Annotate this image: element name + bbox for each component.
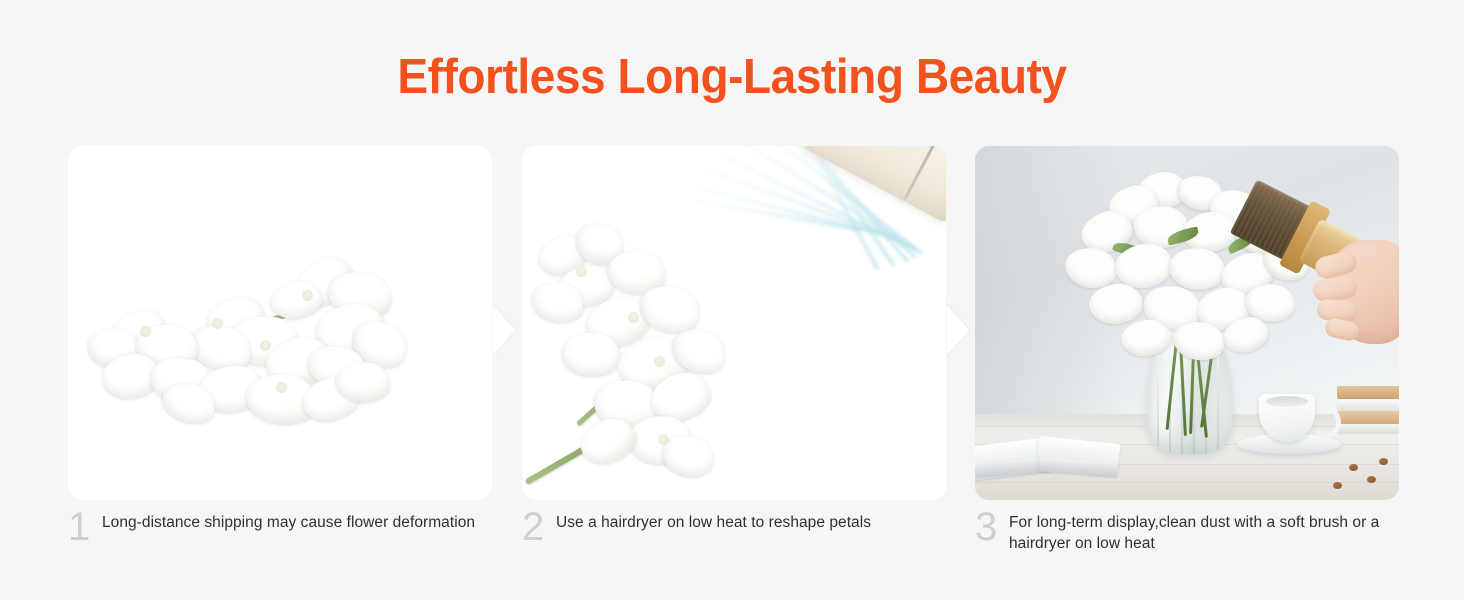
stacked-books [1337,386,1399,436]
step-card-2: 2 Use a hairdryer on low heat to reshape… [522,146,946,576]
open-magazine [975,420,1123,492]
step-3-image [975,146,1399,500]
step-3-caption: 3 For long-term display,clean dust with … [975,512,1399,554]
coffee-bean [1349,464,1358,471]
step-2-image [522,146,946,500]
step-number-3: 3 [975,507,1009,547]
step-3-text: For long-term display,clean dust with a … [1009,512,1399,554]
coffee-bean [1367,476,1376,483]
dusting-lifestyle-photo [975,146,1399,500]
coffee-bean [1379,458,1388,465]
hydrangea-stem-flowers [532,224,762,486]
coffee-bean [1333,482,1342,489]
step-card-3: 3 For long-term display,clean dust with … [975,146,1399,576]
hairdryer-nozzle [772,146,946,259]
hand-holding-brush [1315,240,1399,352]
hydrangea-bunch [80,242,410,432]
infographic-page: Effortless Long-Lasting Beauty [0,0,1464,600]
step-1-text: Long-distance shipping may cause flower … [102,512,492,533]
step-arrow-1-icon [492,303,518,359]
steps-row: 1 Long-distance shipping may cause flowe… [0,146,1464,576]
step-arrow-2-icon [946,303,972,359]
step-card-1: 1 Long-distance shipping may cause flowe… [68,146,492,576]
hairdryer-reshaping-illustration [522,146,946,500]
step-number-2: 2 [522,507,556,547]
step-2-text: Use a hairdryer on low heat to reshape p… [556,512,946,533]
step-2-caption: 2 Use a hairdryer on low heat to reshape… [522,512,946,547]
step-1-image [68,146,492,500]
crushed-hydrangea-illustration [68,146,492,500]
step-number-1: 1 [68,507,102,547]
cup-handle [1311,406,1341,438]
step-1-caption: 1 Long-distance shipping may cause flowe… [68,512,492,547]
page-title: Effortless Long-Lasting Beauty [44,48,1420,106]
